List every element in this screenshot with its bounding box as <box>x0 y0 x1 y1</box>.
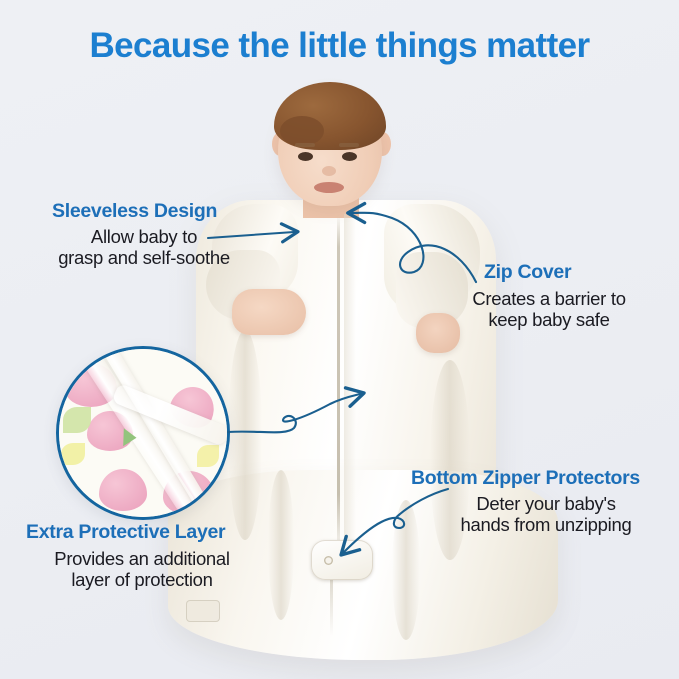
callout-heading-bottom-zipper-protectors: Bottom Zipper Protectors <box>411 467 640 490</box>
floral-leaf <box>63 407 91 433</box>
floral-petal <box>99 469 147 511</box>
bottom-zipper-protector-tab <box>311 540 373 580</box>
baby-eyebrow-right <box>339 143 359 147</box>
baby-eye-left <box>298 152 313 161</box>
callout-heading-extra-protective-layer: Extra Protective Layer <box>26 521 225 544</box>
callout-body-sleeveless-design: Allow baby to grasp and self-soothe <box>30 226 258 269</box>
fabric-fold <box>268 470 294 620</box>
baby-hands-clasped <box>232 289 306 335</box>
zip-cover-flap <box>344 214 356 544</box>
callout-body-bottom-zipper-protectors: Deter your baby's hands from unzipping <box>424 493 668 536</box>
zipper-pull-icon <box>123 428 137 446</box>
callout-heading-zip-cover: Zip Cover <box>484 261 571 284</box>
baby-eye-right <box>342 152 357 161</box>
floral-leaf <box>197 445 219 467</box>
baby-mouth <box>314 182 344 193</box>
snap-button <box>324 556 333 565</box>
product-infographic: Because the little things matter <box>0 0 679 679</box>
baby-nose <box>322 166 336 176</box>
callout-body-zip-cover: Creates a barrier to keep baby safe <box>434 288 664 331</box>
callout-heading-sleeveless-design: Sleeveless Design <box>52 200 217 223</box>
fabric-fold <box>392 500 420 640</box>
inset-fabric-background <box>59 349 227 517</box>
fabric-fold <box>228 330 262 540</box>
baby-eyebrow-left <box>295 143 315 147</box>
floral-leaf <box>61 443 85 465</box>
baby-hair <box>274 82 386 150</box>
callout-body-extra-protective-layer: Provides an additional layer of protecti… <box>22 548 262 591</box>
fabric-closeup-inset <box>56 346 230 520</box>
zipper-seam <box>337 214 340 544</box>
garment-care-tag <box>186 600 220 622</box>
